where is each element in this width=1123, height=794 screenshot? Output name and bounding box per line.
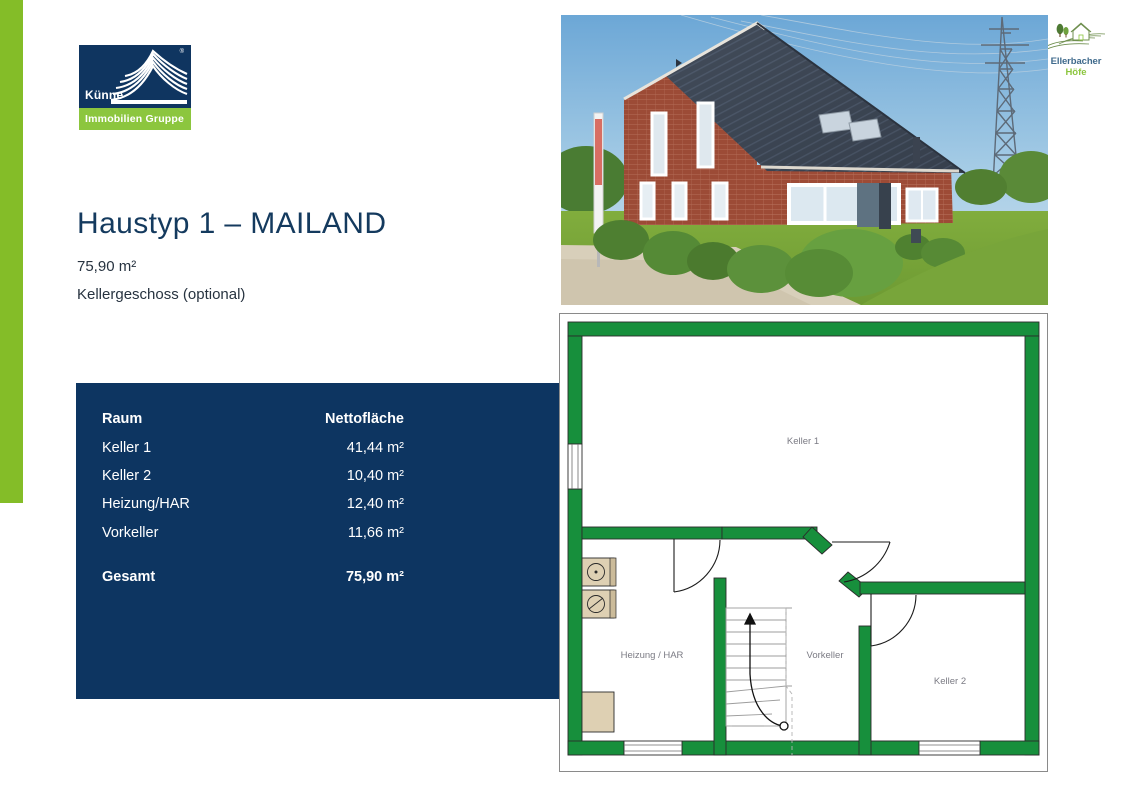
room-name: Vorkeller [102, 524, 261, 552]
left-accent-bar [0, 0, 23, 503]
total-label: Gesamt [102, 568, 261, 596]
kuenne-wordmark: Künne [85, 89, 123, 101]
ellerbacher-hoefe-logo: Ellerbacher Höfe [1043, 20, 1109, 80]
table-row: Keller 1 41,44 m² [102, 439, 404, 467]
registered-mark: ® [180, 49, 184, 55]
room-name: Keller 2 [102, 467, 261, 495]
column-header-room: Raum [102, 410, 261, 439]
page-title: Haustyp 1 – MAILAND [77, 207, 386, 241]
column-header-area: Nettofläche [261, 410, 404, 439]
fixture-washing-machine [582, 558, 616, 586]
room-area-panel: Raum Nettofläche Keller 1 41,44 m² Kelle… [76, 383, 560, 699]
window-left [568, 444, 582, 489]
table-total-row: Gesamt 75,90 m² [102, 568, 404, 596]
room-area: 12,40 m² [261, 495, 404, 523]
house-photo [561, 15, 1048, 305]
plan-room-label-heizung: Heizung / HAR [621, 650, 684, 661]
plan-room-label-keller2: Keller 2 [934, 676, 966, 687]
kuenne-logo-box: ® Künne [79, 45, 191, 108]
room-area-table: Raum Nettofläche Keller 1 41,44 m² Kelle… [102, 410, 404, 596]
floor-subtitle: Kellergeschoss (optional) [77, 286, 245, 303]
total-area-subtitle: 75,90 m² [77, 258, 136, 275]
floor-plan-drawing: Keller 1 Heizung / HAR Vorkeller Keller … [560, 314, 1047, 771]
hoefe-wordmark: Höfe [1043, 68, 1109, 79]
plan-room-label-vorkeller: Vorkeller [807, 650, 844, 661]
room-area: 10,40 m² [261, 467, 404, 495]
room-name: Heizung/HAR [102, 495, 261, 523]
room-name: Keller 1 [102, 439, 261, 467]
window-bottom-heizung [624, 741, 682, 755]
farm-house-field-icon [1043, 20, 1109, 52]
kuenne-subtitle: Immobilien Gruppe [79, 108, 191, 130]
table-header-row: Raum Nettofläche [102, 410, 404, 439]
total-area: 75,90 m² [261, 568, 404, 596]
kuenne-logo: ® Künne Immobilien Gruppe [79, 45, 191, 130]
table-row: Heizung/HAR 12,40 m² [102, 495, 404, 523]
table-row: Vorkeller 11,66 m² [102, 524, 404, 552]
house-photo-illustration [561, 15, 1048, 305]
room-area: 41,44 m² [261, 439, 404, 467]
window-bottom-keller2 [919, 741, 980, 755]
table-row: Keller 2 10,40 m² [102, 467, 404, 495]
slide-root: ® Künne Immobilien Gruppe Ellerbacher [0, 0, 1123, 794]
plan-room-label-keller1: Keller 1 [787, 436, 819, 447]
fixture-dryer [582, 590, 616, 618]
room-area: 11,66 m² [261, 524, 404, 552]
floor-plan: Keller 1 Heizung / HAR Vorkeller Keller … [559, 313, 1048, 772]
table-spacer-row [102, 552, 404, 568]
fixture-storage-unit [582, 692, 614, 732]
